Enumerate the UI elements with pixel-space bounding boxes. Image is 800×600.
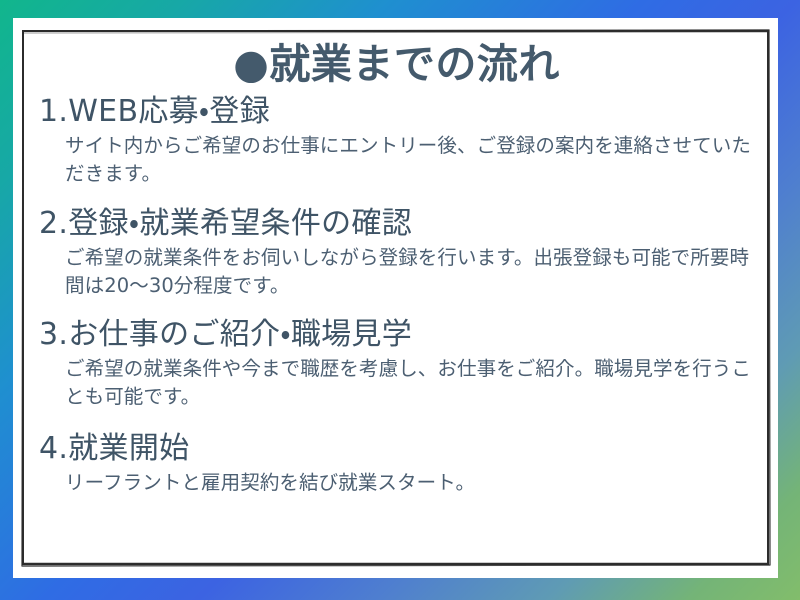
step-item-4: 4.就業開始 リーフラントと雇用契約を結び就業スタート。: [39, 429, 754, 497]
step-item-2: 2.登録・就業希望条件の確認 ご希望の就業条件をお伺いしながら登録を行います。出…: [39, 204, 754, 300]
step-item-1: 1.WEB応募・登録 サイト内からご希望のお仕事にエントリー後、ご登録の案内を連…: [39, 92, 754, 188]
poster-content: ●就業までの流れ 1.WEB応募・登録 サイト内からご希望のお仕事にエントリー後…: [13, 18, 778, 578]
white-card: ●就業までの流れ 1.WEB応募・登録 サイト内からご希望のお仕事にエントリー後…: [13, 18, 778, 578]
step-heading-1: 1.WEB応募・登録: [39, 92, 754, 131]
step-body-3: ご希望の就業条件や今まで職歴を考慮し、お仕事をご紹介。職場見学を行うことも可能で…: [65, 355, 754, 411]
page-title: ●就業までの流れ: [39, 42, 754, 88]
poster-root: ●就業までの流れ 1.WEB応募・登録 サイト内からご希望のお仕事にエントリー後…: [0, 0, 800, 600]
step-body-1: サイト内からご希望のお仕事にエントリー後、ご登録の案内を連絡させていただきます。: [65, 132, 754, 188]
step-heading-4: 4.就業開始: [39, 429, 754, 468]
step-body-2: ご希望の就業条件をお伺いしながら登録を行います。出張登録も可能で所要時間は20〜…: [65, 244, 754, 300]
step-item-3: 3.お仕事のご紹介・職場見学 ご希望の就業条件や今まで職歴を考慮し、お仕事をご紹…: [39, 315, 754, 411]
step-heading-3: 3.お仕事のご紹介・職場見学: [39, 315, 754, 354]
step-body-4: リーフラントと雇用契約を結び就業スタート。: [65, 469, 754, 497]
step-heading-2: 2.登録・就業希望条件の確認: [39, 204, 754, 243]
